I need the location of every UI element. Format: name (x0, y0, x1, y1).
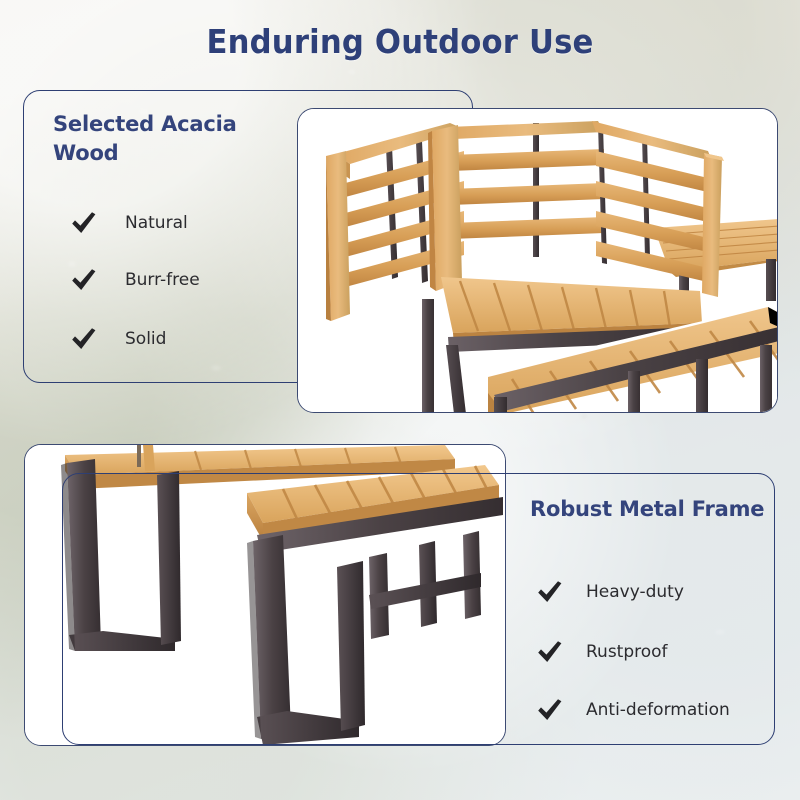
check-icon (70, 210, 98, 236)
feature-item-natural: Natural (70, 210, 188, 236)
sofa-illustration (298, 109, 778, 413)
page-title: Enduring Outdoor Use (28, 22, 772, 61)
check-icon (536, 639, 564, 665)
feature-label: Anti-deformation (586, 700, 730, 720)
card-heading-wood: Selected Acacia Wood (53, 110, 263, 168)
check-icon (70, 326, 98, 352)
feature-label: Heavy-duty (586, 582, 684, 602)
feature-label: Rustproof (586, 642, 668, 662)
check-icon (536, 697, 564, 723)
feature-item-anti-deformation: Anti-deformation (536, 697, 730, 723)
feature-label: Burr-free (125, 270, 200, 290)
feature-label: Solid (125, 329, 166, 349)
feature-label: Natural (125, 213, 188, 233)
feature-item-rustproof: Rustproof (536, 639, 668, 665)
product-photo-sofa (297, 108, 778, 413)
card-heading-metal: Robust Metal Frame (530, 495, 780, 524)
feature-item-heavy-duty: Heavy-duty (536, 579, 684, 605)
check-icon (70, 267, 98, 293)
check-icon (536, 579, 564, 605)
feature-item-solid: Solid (70, 326, 166, 352)
feature-item-burr-free: Burr-free (70, 267, 200, 293)
